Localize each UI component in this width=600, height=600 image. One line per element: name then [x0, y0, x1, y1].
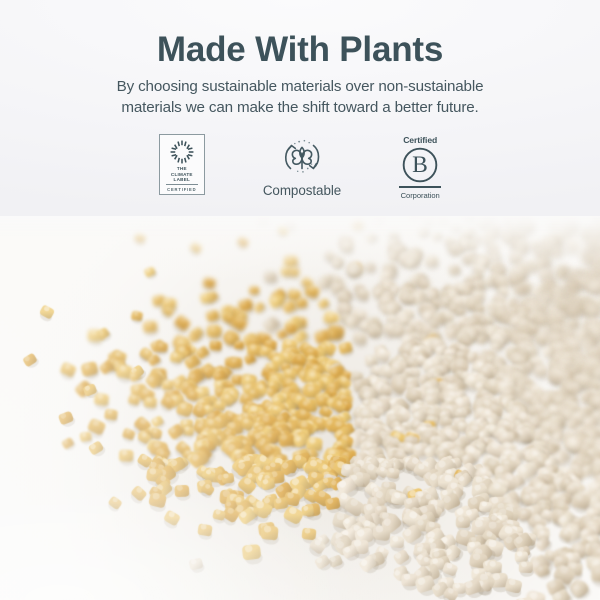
certification-badge-row: THE CLIMATE LABEL CERTIFIED — [0, 134, 600, 208]
page-subtitle-line-2: materials we can make the shift toward a… — [50, 97, 550, 118]
compostable-label: Compostable — [263, 183, 341, 198]
climate-label-wordmark: THE CLIMATE LABEL — [171, 166, 193, 183]
climate-label-frame: THE CLIMATE LABEL CERTIFIED — [159, 134, 205, 195]
compostable-clover-arrows-icon — [278, 134, 326, 179]
header-section: Made With Plants By choosing sustainable… — [0, 0, 600, 216]
svg-text:B: B — [412, 152, 428, 178]
b-corp-divider — [399, 186, 441, 188]
page-subtitle: By choosing sustainable materials over n… — [50, 76, 550, 118]
ad-creative-page: Made With Plants By choosing sustainable… — [0, 0, 600, 600]
badge-b-corp[interactable]: Certified B Corporation — [399, 134, 441, 200]
plant-based-plastic-pellets-photo — [0, 212, 600, 600]
climate-label-certified-text: CERTIFIED — [167, 187, 196, 192]
climate-label-line-3: LABEL — [171, 177, 193, 183]
badge-climate-label[interactable]: THE CLIMATE LABEL CERTIFIED — [159, 134, 205, 195]
climate-label-divider — [166, 184, 198, 185]
pellet-pile-illustration — [0, 212, 600, 600]
page-subtitle-line-1: By choosing sustainable materials over n… — [50, 76, 550, 97]
b-corp-certified-text: Certified — [403, 135, 437, 145]
sunburst-icon — [169, 139, 195, 165]
b-corp-corporation-text: Corporation — [401, 191, 440, 200]
badge-compostable[interactable]: Compostable — [263, 134, 341, 198]
b-corp-circle-icon: B — [401, 146, 439, 184]
page-title: Made With Plants — [0, 29, 600, 71]
